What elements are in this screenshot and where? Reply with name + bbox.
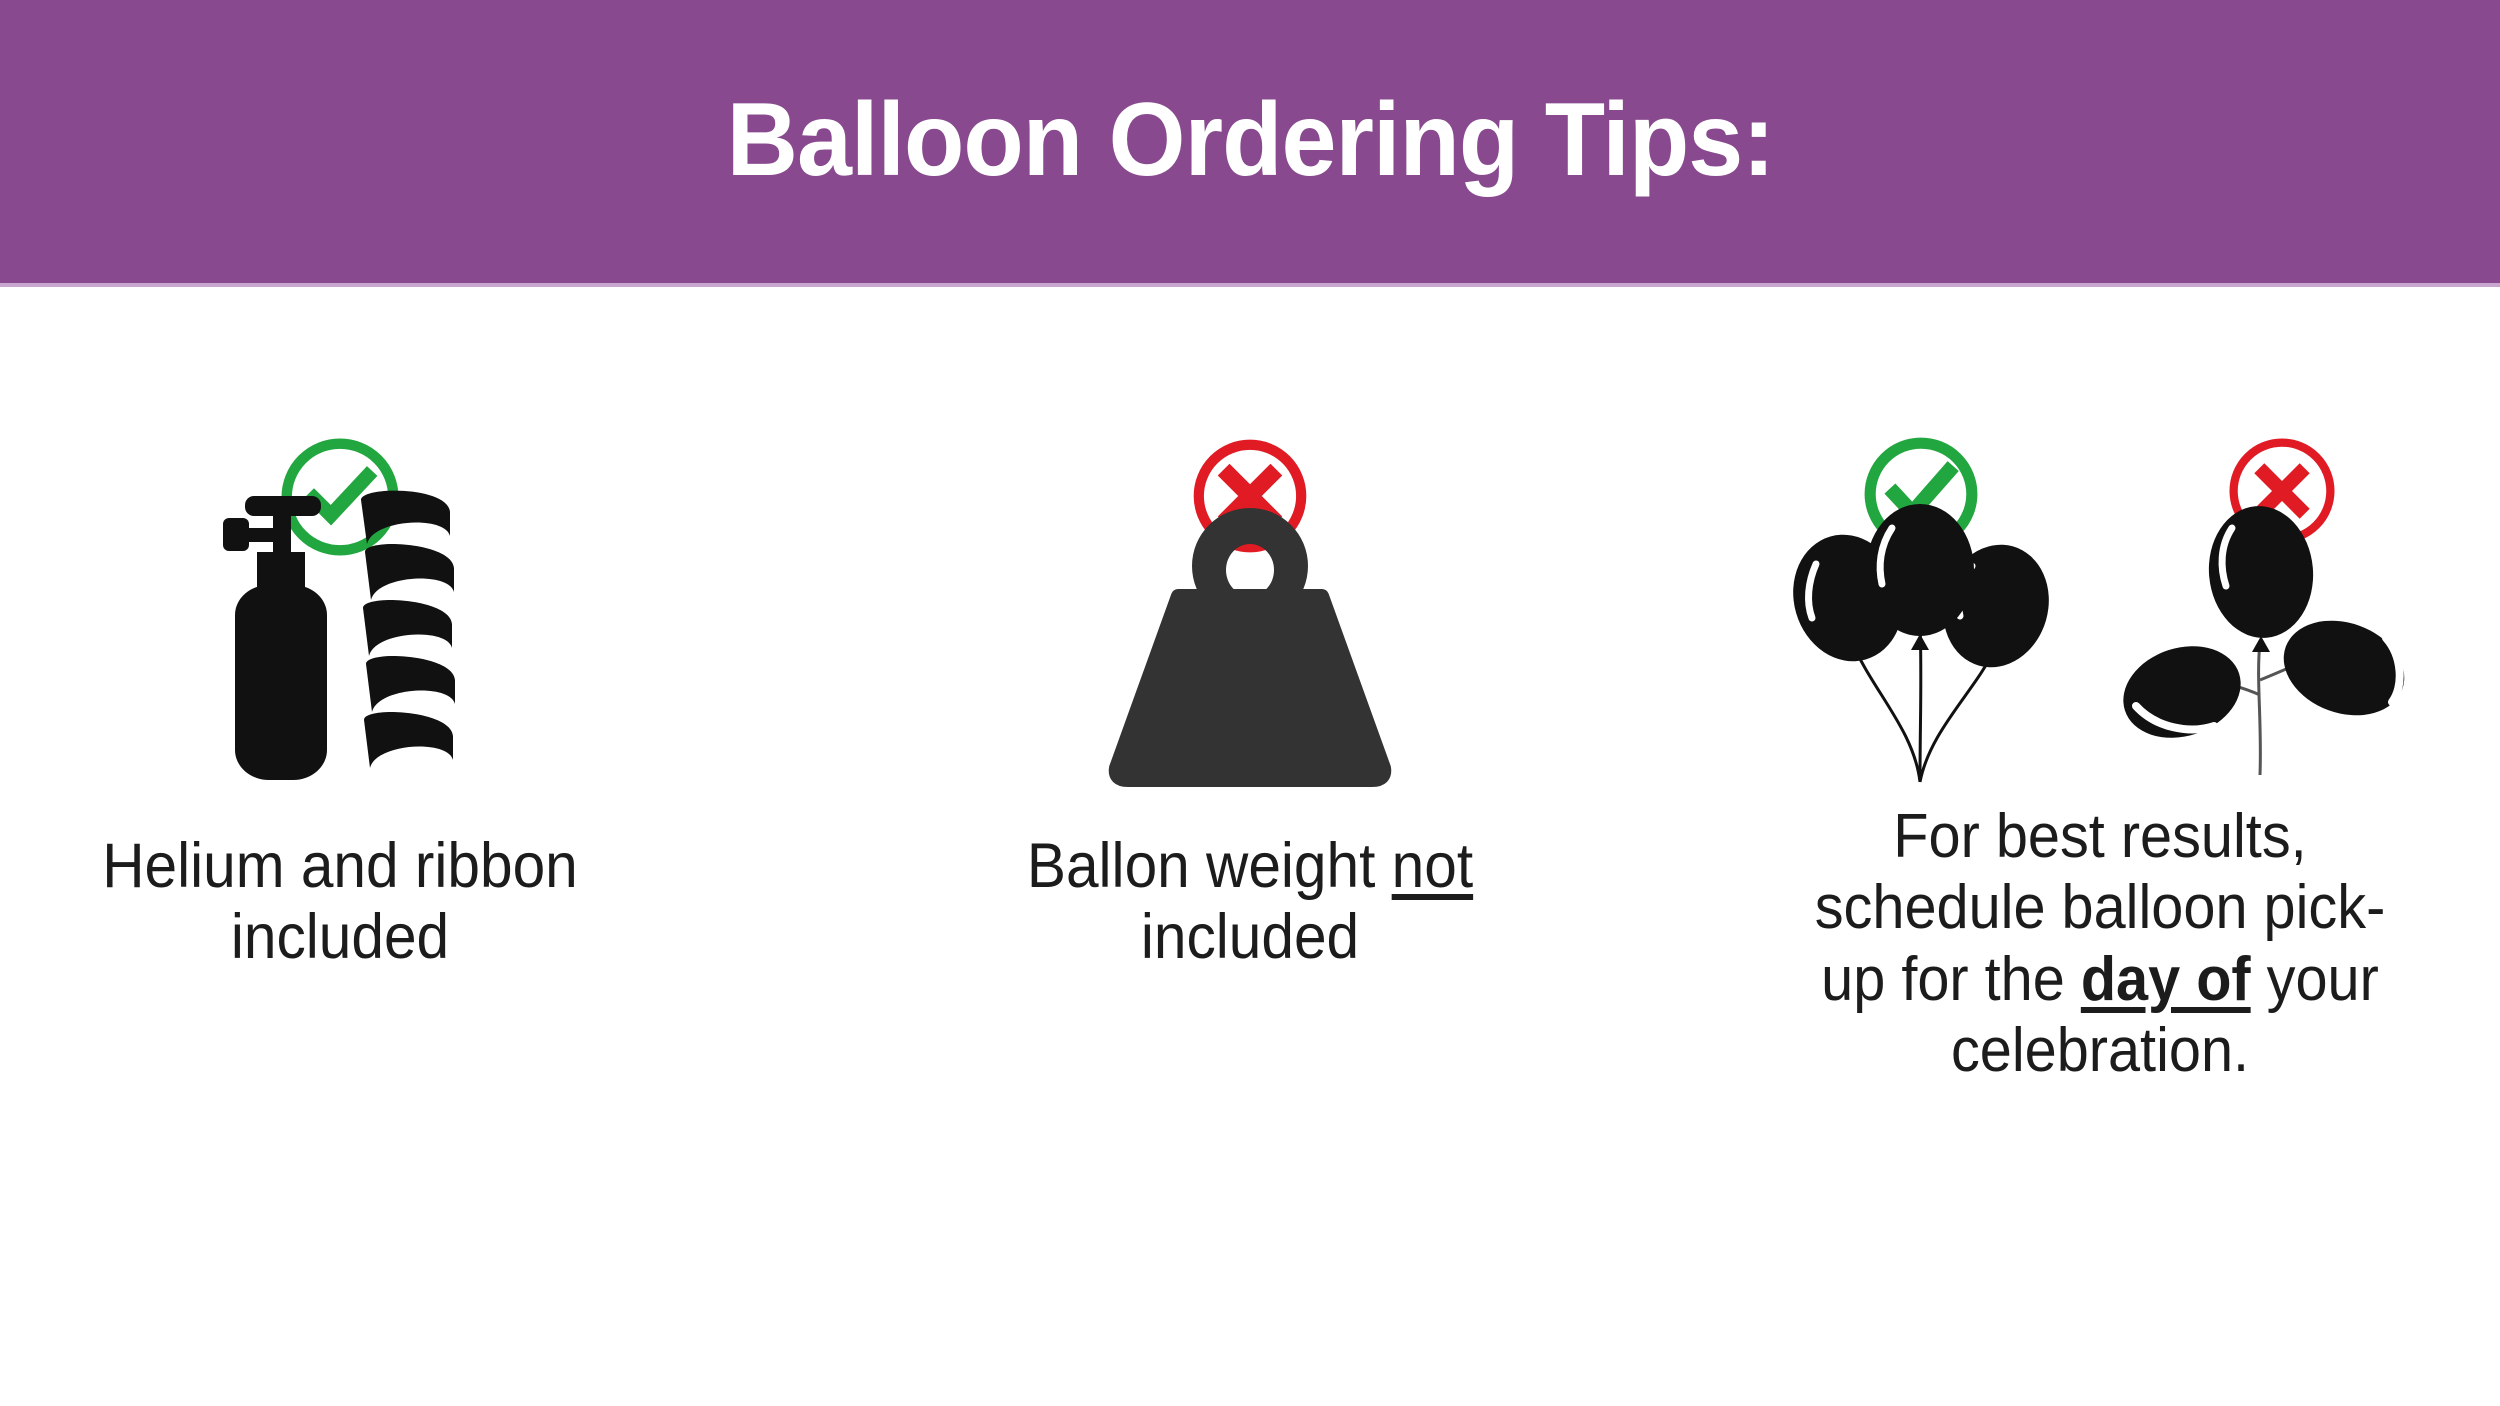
tip-card-balloon-weight: Ballon weight not included (900, 287, 1600, 972)
caption-line-1: Helium and ribbon (24, 831, 656, 902)
caption-emphasis-day-of: day of (2081, 945, 2251, 1014)
caption-line-4: celebration. (1728, 1015, 2472, 1086)
tips-container: Helium and ribbon included (0, 287, 2500, 1406)
curled-ribbon-icon (353, 490, 458, 795)
inflated-balloons-icon (1780, 490, 2060, 795)
badge-row (1700, 287, 2500, 437)
art-row (900, 475, 1600, 795)
caption-emphasis-not: not (1392, 831, 1473, 901)
caption-line-1: For best results, (1728, 801, 2472, 872)
page-title: Balloon Ordering Tips: (726, 88, 1774, 192)
badge-row (0, 287, 680, 437)
caption-line-2: schedule balloon pick- (1728, 872, 2472, 943)
caption-line-1: Ballon weight not (925, 831, 1576, 902)
caption-text-pre: Ballon weight (1027, 831, 1392, 901)
header-banner: Balloon Ordering Tips: (0, 0, 2500, 283)
tip-caption: Helium and ribbon included (24, 831, 656, 972)
tip-caption: Ballon weight not included (925, 831, 1576, 972)
art-row (1700, 475, 2500, 795)
tip-caption: For best results, schedule balloon pick-… (1728, 801, 2472, 1086)
caption-text-pre: up for the (1821, 945, 2081, 1014)
caption-line-2: included (24, 902, 656, 973)
caption-text-post: your (2251, 945, 2379, 1014)
art-row (0, 475, 680, 795)
tip-card-pickup-timing: For best results, schedule balloon pick-… (1700, 287, 2500, 1086)
helium-tank-icon (223, 490, 353, 795)
tip-card-helium-ribbon: Helium and ribbon included (0, 287, 680, 972)
caption-line-3: up for the day of your (1728, 944, 2472, 1015)
caption-line-2: included (925, 902, 1576, 973)
deflated-balloons-icon (2120, 490, 2420, 795)
balloon-weight-icon (1100, 500, 1400, 795)
badge-row (900, 287, 1600, 437)
